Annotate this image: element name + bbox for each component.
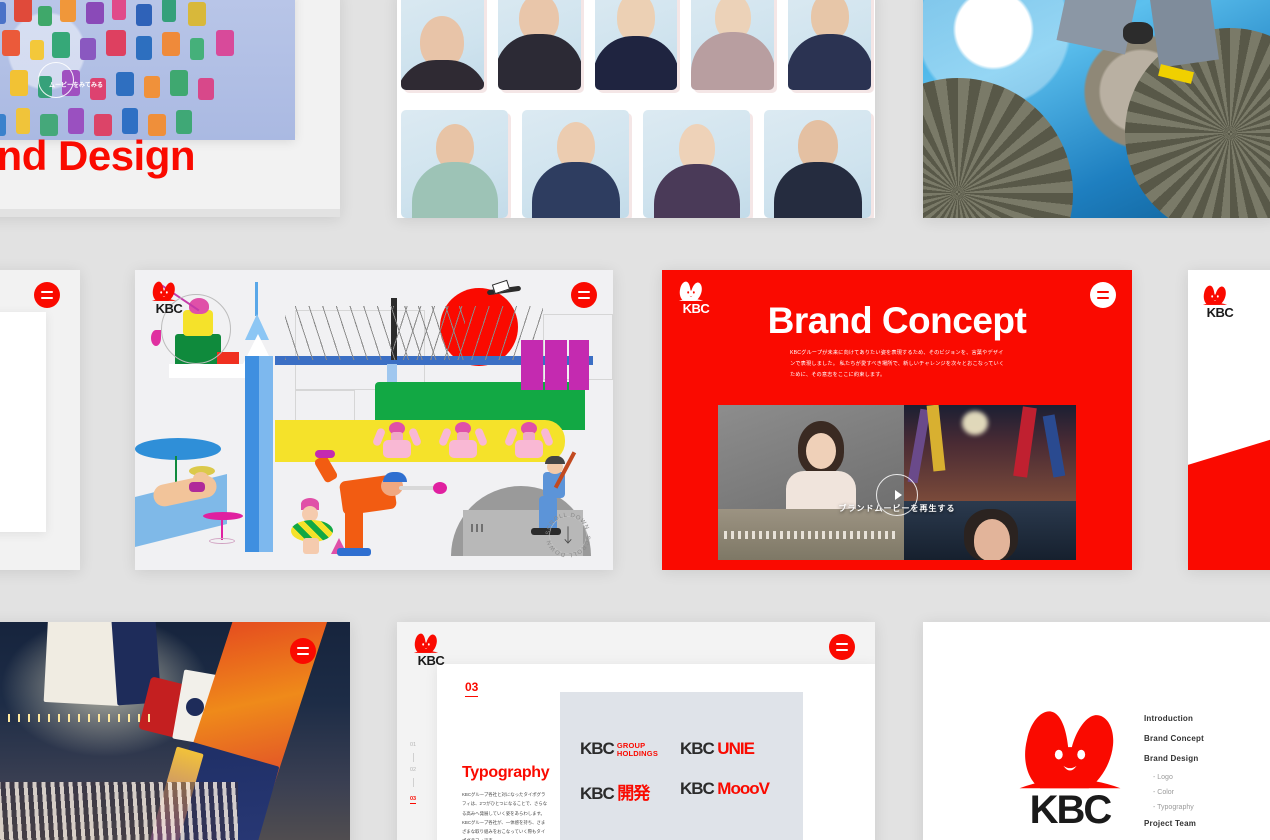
card-base-strip [0,209,340,217]
hamburger-menu-icon[interactable] [290,638,316,664]
wordmark-group-holdings: KBC GROUP HOLDINGS [580,739,658,759]
hamburger-menu-icon[interactable] [571,282,597,308]
typography-title: Typography [462,764,549,782]
illustration-caption: ムービーをみてみる [16,80,136,89]
kbc-rabbit-icon [149,280,179,302]
section-nav[interactable]: Introduction Brand Concept Brand Design … [1144,714,1264,839]
wordmark-base: KBC [680,739,714,758]
video-caption: ブランドムービーを再生する [718,503,1076,514]
kbc-logo-large[interactable]: KBC [995,706,1145,833]
brand-design-illustration: ムービーをみてみる [0,0,295,140]
kbc-logo[interactable]: KBC [1200,284,1240,319]
wordmark-mooov: KBC MoooV [680,779,769,799]
card-team-grid[interactable] [397,0,875,218]
card-typography-screen[interactable]: KBC GROUP HOLDINGS KBC UNIE KBC 開発 KBC M… [397,622,875,840]
wordmark-swatch-panel [560,692,803,840]
portrait-photo[interactable] [788,0,871,90]
side-nav-item[interactable]: 01 [403,742,423,748]
kbc-logo[interactable]: KBC [149,280,189,315]
nav-item-introduction[interactable]: Introduction [1144,714,1264,723]
kbc-rabbit-icon [411,632,441,654]
kbc-wordmark: KBC [995,788,1145,833]
wordmark-base: KBC [680,779,714,798]
screenshot-collage: ムービーをみてみる Brand Design [0,0,1270,840]
red-diagonal-graphic [1188,410,1270,570]
kbc-rabbit-icon [676,280,706,302]
kbc-wordmark: KBC [411,654,451,667]
kbc-rabbit-icon [1010,706,1130,792]
scroll-down-indicator[interactable]: SCROLL DOWN SCROLL DOWN [541,508,595,562]
nav-item-brand-design[interactable]: Brand Design [1144,754,1264,763]
wordmark-base: KBC [580,739,614,758]
wordmark-kaihatsu: KBC 開発 [580,779,649,804]
wordmark-base: KBC [580,784,614,803]
kbc-wordmark: KBC [149,302,189,315]
nav-item-project-team[interactable]: Project Team [1144,819,1264,828]
tiny-planet-photo [923,0,1270,218]
hamburger-menu-icon[interactable] [34,282,60,308]
brand-concept-lead: KBCグループが未来に向けてありたい姿を表現するため、そのビジョンを、言葉やデザ… [790,348,1008,382]
portrait-grid [397,0,875,218]
card-illustration-screen[interactable]: SCROLL DOWN SCROLL DOWN KBC [135,270,613,570]
wordmark-suffix: UNIE [717,739,754,758]
portrait-row [397,0,875,90]
portrait-photo[interactable] [498,0,581,90]
card-brand-design[interactable]: ムービーをみてみる Brand Design [0,0,340,217]
brand-movie-player[interactable]: ブランドムービーを再生する [718,405,1076,560]
portrait-photo[interactable] [691,0,774,90]
kbc-wordmark: KBC [1200,306,1240,319]
nav-subitem-color[interactable]: - Color [1153,789,1264,796]
portrait-photo[interactable] [401,110,508,218]
inner-white-panel [0,312,46,532]
wordmark-suffix-line: HOLDINGS [617,750,658,758]
hamburger-menu-icon[interactable] [1090,282,1116,308]
portrait-row [397,110,875,218]
section-side-nav[interactable]: 01 02 03 [403,737,423,809]
card-panorama-360[interactable] [923,0,1270,218]
wordmark-suffix: MoooV [717,779,769,798]
hamburger-menu-icon[interactable] [829,634,855,660]
card-festival-photo[interactable] [0,622,350,840]
card-project-team[interactable]: KBC Introduction Brand Concept Brand Des… [923,622,1270,840]
portrait-photo[interactable] [522,110,629,218]
nav-subitem-typography[interactable]: - Typography [1153,804,1264,811]
card-left-edge-partial[interactable] [0,270,80,570]
typography-body-text: KBCグループ各社と対になったタイポグラフィは、2つがひとつになることで、さらな… [462,790,548,840]
portrait-photo[interactable] [764,110,871,218]
side-nav-divider [413,778,414,787]
portrait-photo[interactable] [643,110,750,218]
brand-design-title: Brand Design [0,132,195,180]
wordmark-unie: KBC UNIE [680,739,754,759]
card-right-edge-partial[interactable]: KBC [1188,270,1270,570]
card-brand-concept[interactable]: KBC Brand Concept KBCグループが未来に向けてありたい姿を表現… [662,270,1132,570]
section-number: 03 [465,680,478,697]
portrait-photo[interactable] [401,0,484,90]
side-nav-item[interactable]: 02 [403,767,423,773]
kbc-rabbit-icon [1200,284,1230,306]
portrait-photo[interactable] [595,0,678,90]
side-nav-divider [413,753,414,762]
nav-item-brand-concept[interactable]: Brand Concept [1144,734,1264,743]
nav-subitem-logo[interactable]: - Logo [1153,774,1264,781]
side-nav-item-active[interactable]: 03 [410,796,416,804]
brand-concept-title: Brand Concept [662,300,1132,342]
wordmark-suffix: 開発 [617,784,649,803]
kbc-logo[interactable]: KBC [411,632,451,667]
